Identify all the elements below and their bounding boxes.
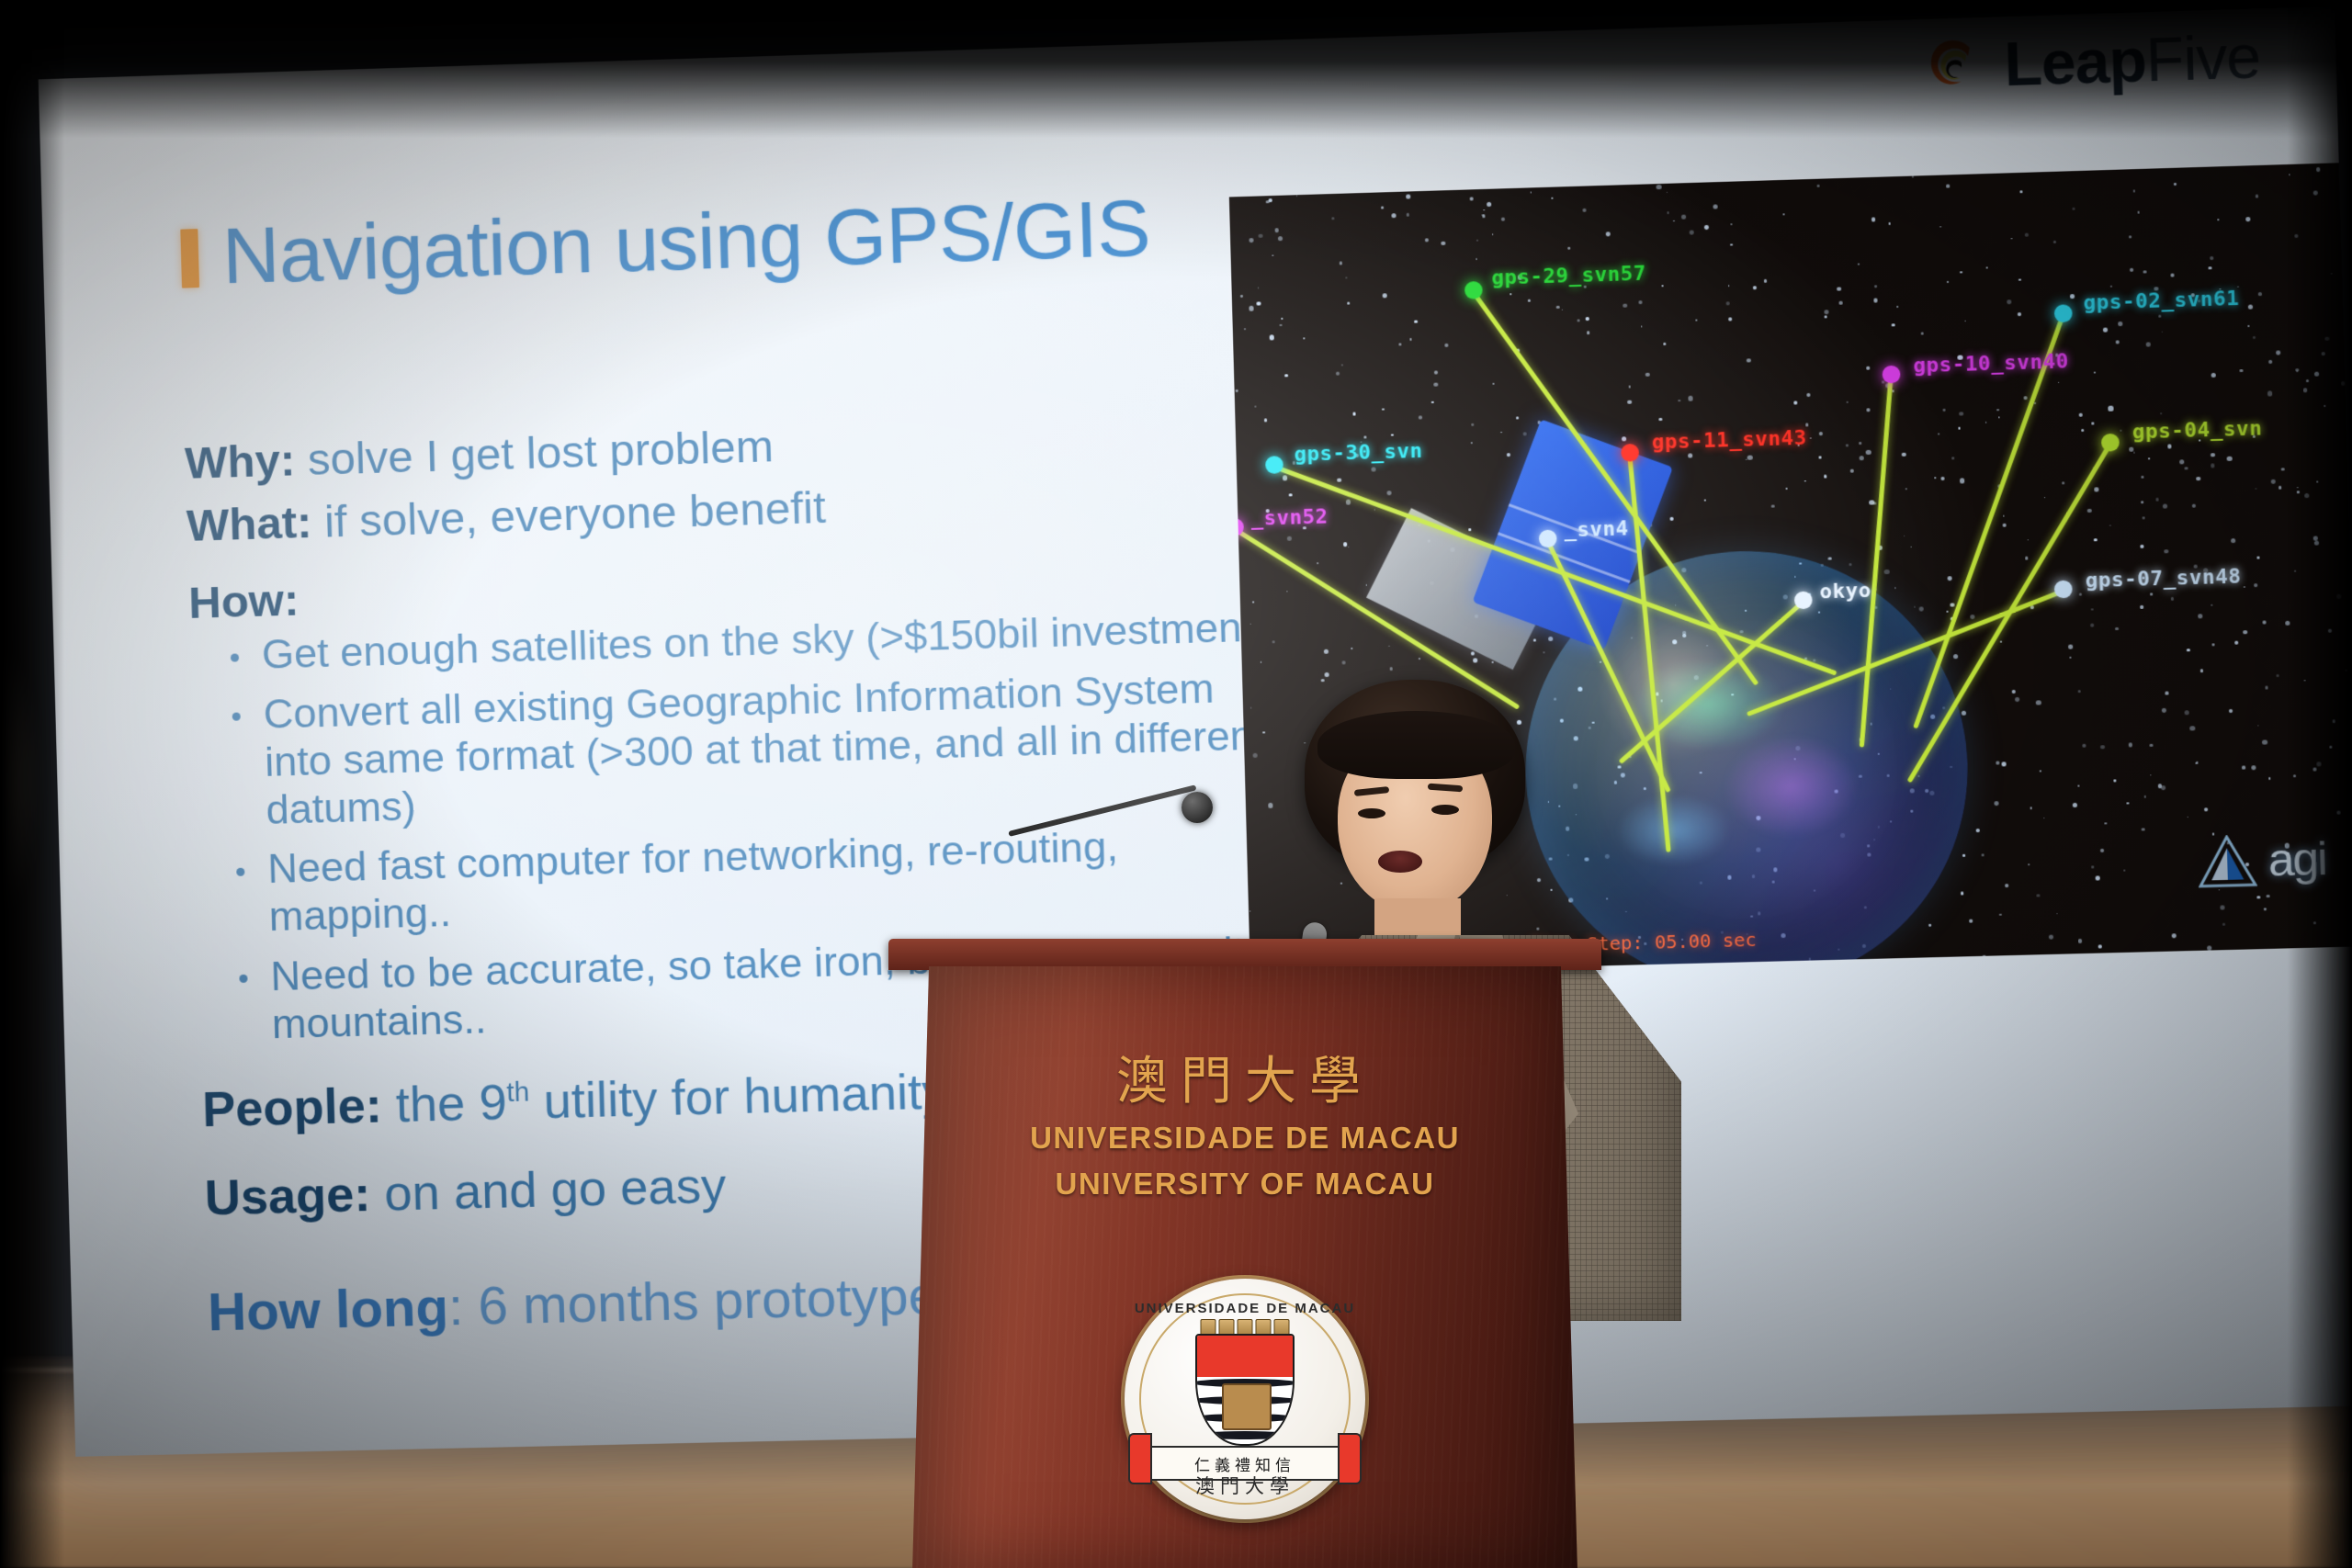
entry-key-what: What: [186, 498, 312, 551]
satellite-label: okyo [1819, 580, 1871, 604]
slide-title-row: Navigation using GPS/GIS [180, 183, 1151, 304]
university-seal: UNIVERSIDADE DE MACAU 仁義禮知信 澳門大學 [1125, 1279, 1365, 1519]
title-accent-bar [180, 229, 199, 288]
lectern-name-chinese: 澳門大學 [912, 1040, 1577, 1114]
gooseneck-microphone-head [1182, 792, 1213, 823]
satellite-label: gps-04_svn [2131, 417, 2262, 444]
satellite-label: _svn4 [1564, 517, 1629, 542]
entry-key-how-long: How long [207, 1277, 449, 1342]
bullet-dot-icon [232, 712, 241, 720]
speaker-mouth [1378, 851, 1422, 873]
agi-triangle-icon [2198, 834, 2257, 887]
entry-value-people-post: utility for humanity [529, 1064, 948, 1129]
entry-value-usage: on and go easy [384, 1158, 727, 1222]
seal-outer-text: UNIVERSIDADE DE MACAU [1125, 1301, 1365, 1316]
presentation-scene: LeapFive Navigation using GPS/GIS Why: s… [0, 0, 2352, 1568]
list-item: Need fast computer for networking, re-ro… [267, 818, 1292, 942]
satellite-label: gps-30_svn [1294, 440, 1423, 467]
satellite-label: gps-02_svn61 [2083, 288, 2239, 315]
bullet-dot-icon [231, 653, 239, 661]
lectern-name-english: UNIVERSITY OF MACAU [912, 1167, 1577, 1201]
lectern-name-portuguese: UNIVERSIDADE DE MACAU [912, 1121, 1577, 1156]
left-darkening [0, 0, 64, 1568]
entry-value-people-sup: th [506, 1077, 530, 1108]
entry-key-usage: Usage: [204, 1167, 371, 1225]
entry-key-people: People: [201, 1077, 382, 1137]
bullet-text: Need fast computer for networking, re-ro… [267, 823, 1119, 941]
entry-key-why: Why: [184, 435, 295, 489]
bullet-dot-icon [239, 975, 247, 983]
entry-value-people-pre: the 9 [395, 1075, 507, 1133]
speaker-fringe [1317, 711, 1515, 779]
right-darkening [2288, 0, 2352, 1568]
seal-bottom-text: 澳門大學 [1125, 1472, 1365, 1499]
entry-value-what: if solve, everyone benefit [323, 482, 826, 547]
lectern-top-surface [888, 939, 1601, 970]
entry-value-why: solve I get lost problem [307, 422, 774, 485]
lectern: 澳門大學 UNIVERSIDADE DE MACAU UNIVERSITY OF… [896, 939, 1594, 1568]
satellite-label: gps-10_svn40 [1913, 350, 2069, 378]
lectern-front-panel: 澳門大學 UNIVERSIDADE DE MACAU UNIVERSITY OF… [912, 966, 1577, 1568]
bullet-dot-icon [236, 867, 244, 875]
top-darkening [0, 0, 2352, 138]
satellite-label: gps-11_svn43 [1652, 426, 1807, 454]
slide-title: Navigation using GPS/GIS [221, 183, 1151, 302]
satellite-label: gps-29_svn57 [1491, 262, 1646, 289]
satellite-label: _svn52 [1250, 505, 1329, 531]
satellite-label: gps-07_svn48 [2085, 565, 2241, 592]
list-item: Convert all existing Geographic Informat… [263, 662, 1289, 834]
